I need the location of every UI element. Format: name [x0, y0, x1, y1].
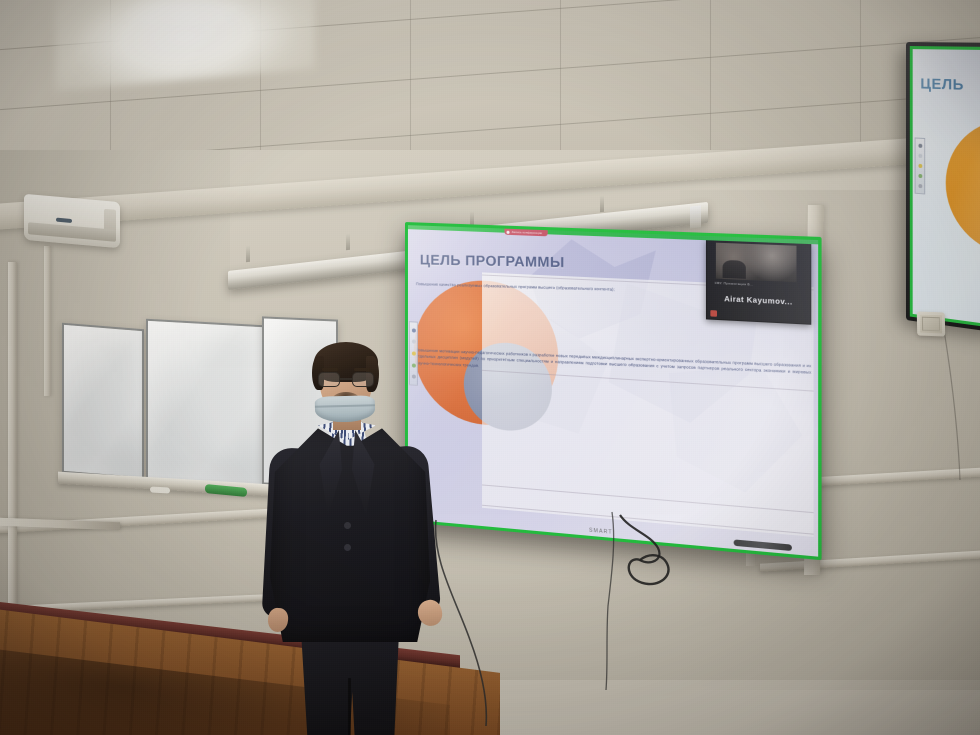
pen-tool-icon[interactable] [918, 154, 922, 158]
secondary-display-bezel: ЦЕЛЬ [906, 42, 980, 333]
eyeglasses-icon [318, 372, 374, 387]
secondary-slide-title: ЦЕЛЬ [920, 75, 964, 94]
presenter-leg-seam [348, 678, 351, 735]
eraser-tool-icon[interactable] [918, 184, 922, 188]
presenter-eyebrow [322, 368, 338, 371]
secondary-side-toolbar[interactable] [915, 137, 926, 194]
wall-junction-box [917, 312, 945, 337]
jacket-button [344, 522, 351, 529]
presenter-jacket [270, 424, 430, 642]
interactive-display-secondary[interactable]: ЦЕЛЬ [906, 42, 980, 333]
hanging-cables [0, 0, 980, 735]
presenter-eyebrow [354, 368, 370, 371]
secondary-slide[interactable]: ЦЕЛЬ [913, 49, 980, 325]
jacket-button [344, 544, 351, 551]
secondary-orange-circle [946, 117, 980, 263]
shape-tool-icon[interactable] [918, 174, 922, 178]
highlighter-tool-icon[interactable] [918, 164, 922, 168]
secondary-share-border: ЦЕЛЬ [910, 46, 980, 328]
face-mask-icon [315, 395, 376, 423]
presenter [248, 338, 458, 735]
pointer-tool-icon[interactable] [918, 144, 922, 148]
lecture-room-photo: ЦЕЛЬ ПРОГРАММЫ Повышение качества реализ… [0, 0, 980, 735]
